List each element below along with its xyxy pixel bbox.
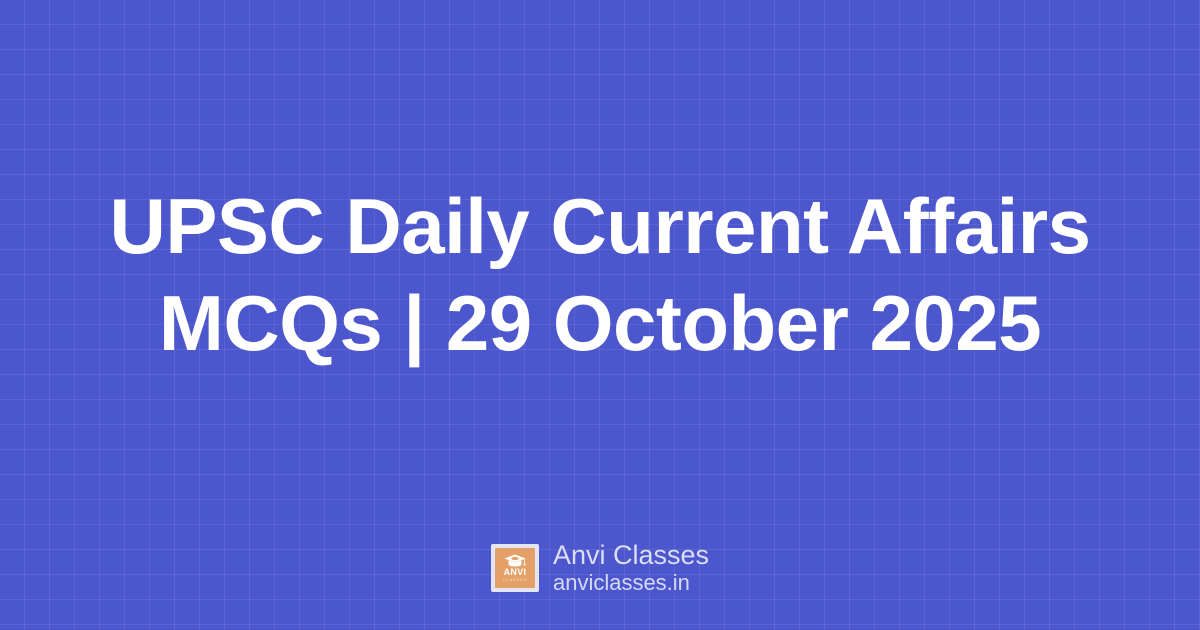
title-line-2: MCQs | 29 October 2025 (40, 275, 1160, 372)
title-line-1: UPSC Daily Current Affairs (40, 178, 1160, 275)
brand-url: anviclasses.in (553, 570, 709, 596)
page-title: UPSC Daily Current Affairs MCQs | 29 Oct… (0, 178, 1200, 372)
brand-name: Anvi Classes (553, 540, 709, 570)
social-share-banner: UPSC Daily Current Affairs MCQs | 29 Oct… (0, 0, 1200, 630)
brand-text-block: Anvi Classes anviclasses.in (553, 540, 709, 596)
brand-logo-name: ANVI (504, 568, 527, 577)
brand-logo: ANVI CLASSES (491, 544, 539, 592)
brand-logo-subtitle: CLASSES (503, 577, 528, 583)
brand-footer: ANVI CLASSES Anvi Classes anviclasses.in (0, 540, 1200, 596)
graduation-cap-icon (504, 554, 526, 567)
brand-logo-badge: ANVI CLASSES (495, 548, 535, 588)
